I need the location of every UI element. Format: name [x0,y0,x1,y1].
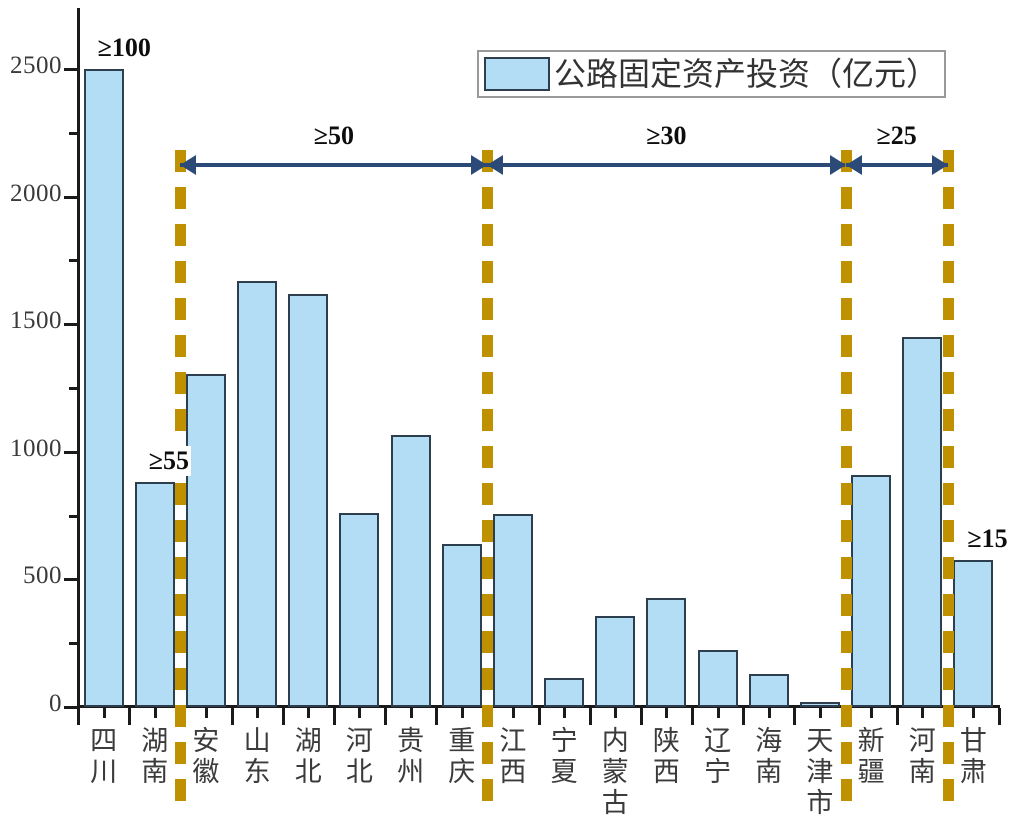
x-category-label: 辽 宁 [696,726,740,788]
y-tick-label: 500 [2,562,62,590]
x-category-label: 河 北 [337,726,381,788]
x-tick-boundary [435,708,438,725]
y-axis-tick-labels: 05001000150020002500 [0,0,62,816]
x-category-label: 安 徽 [184,726,228,788]
x-category-label: 海 南 [747,726,791,788]
bar [698,650,738,707]
span-label: ≥25 [846,121,948,151]
y-tick-major [64,196,78,199]
span-arrowhead-right [471,155,487,175]
x-tick-minor [461,708,464,718]
bar [186,374,226,707]
group-divider-line [482,150,493,810]
bar [749,674,789,707]
x-tick-boundary [384,708,387,725]
y-tick-minor [69,259,78,262]
bar [493,514,533,707]
x-tick-minor [768,708,771,718]
bar [442,544,482,707]
x-category-label: 新 疆 [849,726,893,788]
x-tick-minor [103,708,106,718]
x-tick-boundary [793,708,796,725]
x-tick-boundary [998,708,1001,725]
bar [135,482,175,707]
y-tick-label: 2500 [2,52,62,80]
x-tick-boundary [742,708,745,725]
group-divider-line [175,150,186,810]
x-category-label: 山 东 [235,726,279,788]
bar-value-annotation: ≥100 [96,33,153,63]
x-category-label: 重 庆 [440,726,484,788]
x-tick-boundary [640,708,643,725]
x-category-label: 内 蒙 古 [593,726,637,816]
span-arrowhead-left [846,155,862,175]
x-tick-boundary [333,708,336,725]
legend-label-investment: 公路固定资产投资（亿元） [554,57,938,91]
bar [391,435,431,707]
x-tick-minor [410,708,413,718]
x-tick-boundary [896,708,899,725]
x-tick-minor [921,708,924,718]
x-tick-minor [614,708,617,718]
x-category-label: 天 津 市 [798,726,842,816]
bar-value-annotation: ≥55 [147,446,191,476]
bar [237,281,277,707]
x-tick-minor [307,708,310,718]
bar [646,598,686,707]
span-arrowhead-left [180,155,196,175]
bar [339,513,379,707]
chart-figure: 05001000150020002500 四 川湖 南安 徽山 东湖 北河 北贵… [0,0,1011,816]
x-category-label: 湖 南 [133,726,177,788]
x-category-label: 陕 西 [644,726,688,788]
x-tick-minor [205,708,208,718]
span-label: ≥30 [487,121,845,151]
span-arrowhead-right [830,155,846,175]
x-tick-minor [563,708,566,718]
x-category-label: 河 南 [900,726,944,788]
x-category-label: 宁 夏 [542,726,586,788]
legend-swatch-investment [484,57,550,91]
bar [544,678,584,707]
y-tick-label: 1500 [2,307,62,335]
y-tick-major [64,323,78,326]
bar [953,560,993,707]
x-tick-minor [256,708,259,718]
plot-area: 05001000150020002500 四 川湖 南安 徽山 东湖 北河 北贵… [0,0,1011,816]
y-tick-label: 0 [2,690,62,718]
bar [595,616,635,707]
bar [84,69,124,707]
x-tick-boundary [538,708,541,725]
x-tick-boundary [231,708,234,725]
x-tick-boundary [589,708,592,725]
y-tick-minor [69,132,78,135]
x-category-label: 江 西 [491,726,535,788]
x-tick-boundary [77,708,80,725]
x-tick-minor [665,708,668,718]
x-category-label: 甘 肃 [951,726,995,788]
x-tick-boundary [691,708,694,725]
x-tick-minor [972,708,975,718]
y-tick-minor [69,642,78,645]
x-tick-boundary [282,708,285,725]
x-category-label: 四 川 [82,726,126,788]
y-axis-line [77,8,80,708]
span-arrow-line [487,163,845,167]
x-tick-minor [819,708,822,718]
bar-value-annotation: ≥15 [965,524,1009,554]
span-arrow-line [180,163,487,167]
x-category-label: 贵 州 [389,726,433,788]
group-divider-line [943,150,954,810]
x-tick-minor [154,708,157,718]
x-tick-minor [870,708,873,718]
y-tick-minor [69,387,78,390]
x-category-label: 湖 北 [286,726,330,788]
y-tick-major [64,68,78,71]
x-tick-minor [512,708,515,718]
group-divider-line [841,150,852,810]
x-tick-boundary [128,708,131,725]
span-arrowhead-left [487,155,503,175]
x-tick-minor [358,708,361,718]
bar [851,475,891,707]
y-tick-label: 2000 [2,180,62,208]
bar [800,702,840,707]
chart-legend: 公路固定资产投资（亿元） [477,50,946,98]
bar [288,294,328,707]
y-tick-major [64,706,78,709]
span-label: ≥50 [180,121,487,151]
x-tick-minor [717,708,720,718]
y-tick-major [64,578,78,581]
bar [902,337,942,707]
y-tick-minor [69,515,78,518]
y-tick-label: 1000 [2,435,62,463]
y-tick-major [64,451,78,454]
span-arrowhead-right [932,155,948,175]
